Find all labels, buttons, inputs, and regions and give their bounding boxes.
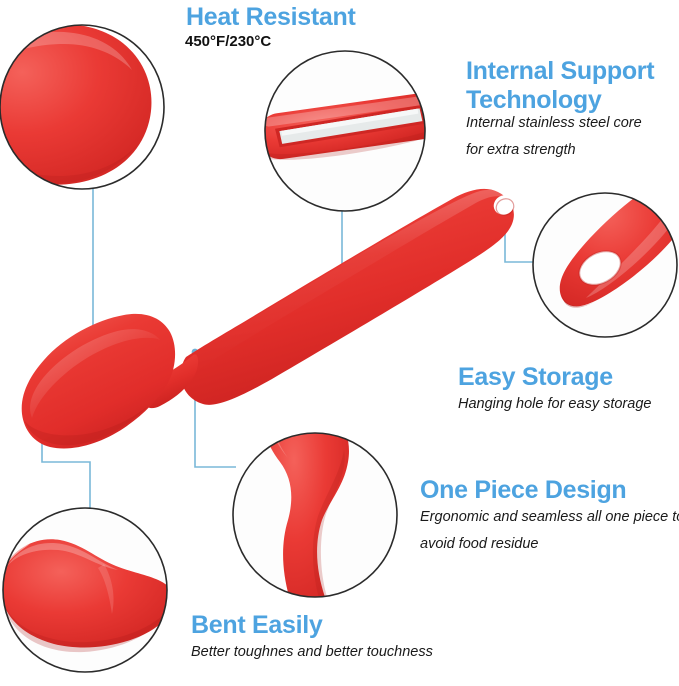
callout-bent-easily [1,508,175,672]
subtext-easy-storage: Hanging hole for easy storage [458,391,651,418]
heading-easy-storage: Easy Storage [458,363,613,392]
heading-bent-easily: Bent Easily [191,611,322,640]
heading-one-piece-design: One Piece Design [420,476,626,505]
subtext-internal-support-line1: Internal stainless steel core [466,110,642,137]
heading-internal-support-line1: Internal Support [466,57,654,86]
subtext-bent-easily: Better toughnes and better touchness [191,639,433,666]
subtext-internal-support-line2: for extra strength [466,137,576,164]
callout-internal-support [255,51,446,211]
spatula-product-illustration [22,189,518,449]
heading-heat-resistant: Heat Resistant [186,3,355,32]
spec-heat-resistant-temperature: 450°F/230°C [185,33,271,50]
subtext-one-piece-design-line1: Ergonomic and seamless all one piece to [420,504,679,531]
callout-heat-resistant [0,24,164,189]
subtext-one-piece-design-line2: avoid food residue [420,531,539,558]
callout-easy-storage [533,174,679,337]
callout-one-piece-design [233,397,397,606]
infographic-canvas: Heat Resistant 450°F/230°C Internal Supp… [0,0,679,686]
